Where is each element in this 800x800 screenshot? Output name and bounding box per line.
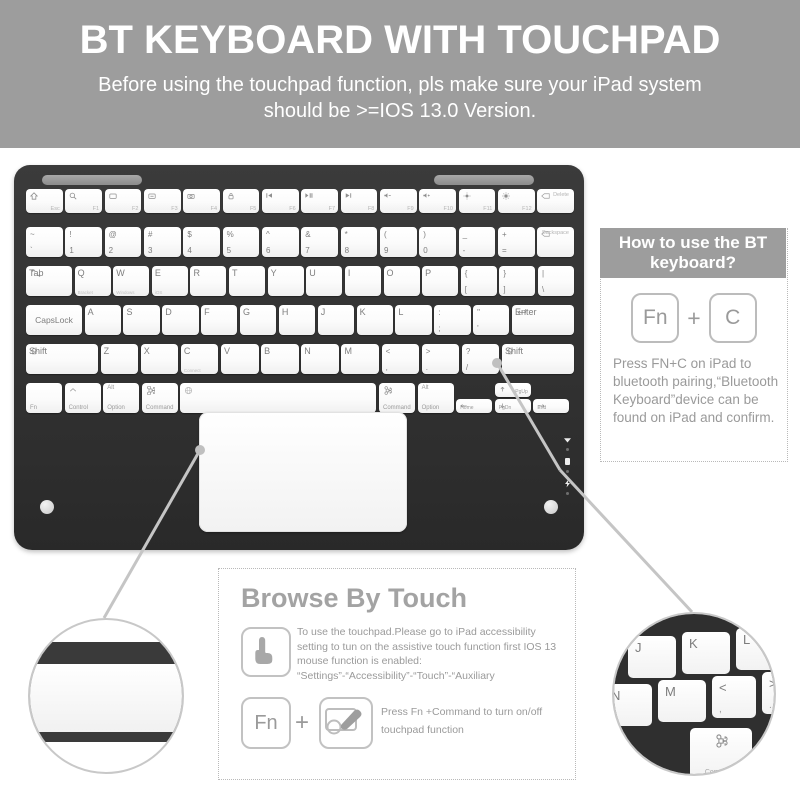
key-h[interactable]: H <box>279 305 315 335</box>
key-j[interactable]: J <box>318 305 354 335</box>
key-f1[interactable]: F1 <box>65 189 102 213</box>
key-l[interactable]: L <box>395 305 431 335</box>
keyboard-brightness-up-icon <box>148 192 156 202</box>
volume-down-icon <box>384 192 393 201</box>
key-[interactable]: |\ <box>538 266 574 296</box>
control-icon <box>69 386 77 395</box>
page-title: BT KEYBOARD WITH TOUCHPAD <box>0 18 800 62</box>
key-s[interactable]: S <box>123 305 159 335</box>
key-2[interactable]: @2 <box>105 227 142 257</box>
ipad-slot-left <box>42 175 142 185</box>
search-icon <box>69 192 77 202</box>
key-[interactable]: "' <box>473 305 509 335</box>
key-r[interactable]: R <box>190 266 226 296</box>
key-v[interactable]: V <box>221 344 259 374</box>
finger-touch-icon <box>241 627 291 677</box>
header-banner: BT KEYBOARD WITH TOUCHPAD Before using t… <box>0 0 800 148</box>
key-t[interactable]: T <box>229 266 265 296</box>
key-fn[interactable]: Fn <box>26 383 62 413</box>
fn-key-cap[interactable]: Fn <box>631 293 679 343</box>
command-symbol-icon <box>383 386 392 397</box>
panel-touch-description-2: Press Fn +Command to turn on/off touchpa… <box>381 703 571 739</box>
closeup-key-j[interactable]: J <box>628 636 676 678</box>
key-9[interactable]: (9 <box>380 227 417 257</box>
delete-icon <box>541 192 550 201</box>
browse-by-touch-panel: Browse By Touch To use the touchpad.Plea… <box>218 568 576 780</box>
infographic-canvas: BT KEYBOARD WITH TOUCHPAD Before using t… <box>0 0 800 800</box>
key-6[interactable]: ^6 <box>262 227 299 257</box>
key-f3[interactable]: F3 <box>144 189 181 213</box>
keyboard-foot-left <box>40 500 54 514</box>
command-symbol-icon <box>690 734 752 751</box>
closeup-key-n[interactable]: N <box>612 684 652 726</box>
key-[interactable]: {[ <box>461 266 497 296</box>
led-dot-3 <box>566 492 569 495</box>
charging-led-icon <box>563 479 572 488</box>
key-y[interactable]: Y <box>268 266 304 296</box>
key-f11[interactable]: F11 <box>459 189 496 213</box>
play-pause-icon <box>305 192 314 201</box>
key-tab[interactable]: Tab <box>26 266 72 296</box>
key-p[interactable]: P <box>422 266 458 296</box>
key-7[interactable]: &7 <box>301 227 338 257</box>
panel-touch-description: To use the touchpad.Please go to iPad ac… <box>297 625 567 683</box>
next-track-icon <box>345 192 354 201</box>
panel-bt-description: Press FN+C on iPad to bluetooth pairing,… <box>613 355 781 427</box>
key-q[interactable]: QBracket <box>75 266 111 296</box>
key-[interactable]: <, <box>382 344 420 374</box>
touchpad-closeup-content <box>28 642 184 750</box>
closeup-keyboard-body <box>28 654 184 742</box>
closeup-key-command[interactable]: Command <box>690 728 752 776</box>
key-grid: EscF1F2F3F4F5F6F7F8F9F10F11F12Delete ~`!… <box>26 189 574 399</box>
key-end[interactable]: End <box>533 399 569 413</box>
closeup-touchpad <box>30 664 182 732</box>
led-dot-1 <box>566 448 569 451</box>
key-control[interactable]: Control <box>65 383 101 413</box>
key-option[interactable]: OptionAlt <box>103 383 139 413</box>
key-f12[interactable]: F12 <box>498 189 535 213</box>
key-f[interactable]: F <box>201 305 237 335</box>
closeup-key-m[interactable]: M <box>658 680 706 722</box>
key-k[interactable]: K <box>357 305 393 335</box>
closeup-key--[interactable]: <, <box>712 676 756 718</box>
key-enter[interactable]: Enter <box>512 305 574 335</box>
fn-key-cap-touch[interactable]: Fn <box>241 697 291 749</box>
key-command[interactable]: Command <box>142 383 178 413</box>
closeup-key-k[interactable]: K <box>682 632 730 674</box>
key-f5[interactable]: F5 <box>223 189 260 213</box>
key-[interactable]: ?/ <box>462 344 500 374</box>
keyboard-foot-right <box>544 500 558 514</box>
key-3[interactable]: #3 <box>144 227 181 257</box>
panel-bt-key-combo: Fn + C <box>601 287 787 349</box>
key-option[interactable]: OptionAlt <box>418 383 454 413</box>
key-f9[interactable]: F9 <box>380 189 417 213</box>
key-pgdn[interactable]: PgDn <box>495 399 531 413</box>
key-g[interactable]: G <box>240 305 276 335</box>
c-key-cap[interactable]: C <box>709 293 757 343</box>
command-icon <box>146 386 155 397</box>
key-1[interactable]: !1 <box>65 227 102 257</box>
key-delete[interactable]: Delete <box>537 189 574 213</box>
key-4[interactable]: $4 <box>183 227 220 257</box>
plus-sign: + <box>687 305 700 332</box>
keys-closeup-circle: JKLNM<,>.Command <box>612 612 776 776</box>
key-[interactable]: _- <box>459 227 496 257</box>
key-capslock[interactable]: CapsLock <box>26 305 82 335</box>
key-backspace[interactable]: Backspace <box>537 227 574 257</box>
key-f8[interactable]: F8 <box>341 189 378 213</box>
how-to-use-bt-panel: How to use the BT keyboard? Fn + C Press… <box>600 228 788 462</box>
home-icon <box>30 192 38 202</box>
key-f6[interactable]: F6 <box>262 189 299 213</box>
key-i[interactable]: I <box>345 266 381 296</box>
key-c[interactable]: CConnect <box>181 344 219 374</box>
previous-track-icon <box>266 192 275 201</box>
key-[interactable]: :; <box>434 305 470 335</box>
key-home[interactable]: Home <box>456 399 492 413</box>
closeup-key-l[interactable]: L <box>736 628 776 670</box>
arrow-up-icon <box>499 386 506 395</box>
key-m[interactable]: M <box>341 344 379 374</box>
volume-up-icon <box>423 192 432 201</box>
key-w[interactable]: WWindows <box>113 266 149 296</box>
brightness-up-icon <box>502 192 510 202</box>
key-f4[interactable]: F4 <box>183 189 220 213</box>
hand-on-touchpad-icon <box>319 697 373 749</box>
key-shift[interactable]: Shift <box>502 344 574 374</box>
key-f10[interactable]: F10 <box>419 189 456 213</box>
key-command[interactable]: Command <box>379 383 415 413</box>
keyboard-illustration: EscF1F2F3F4F5F6F7F8F9F10F11F12Delete ~`!… <box>14 165 584 550</box>
key-8[interactable]: *8 <box>341 227 378 257</box>
bluetooth-led-icon <box>563 435 572 444</box>
key-shift[interactable]: Shift <box>26 344 98 374</box>
key-[interactable]: }] <box>499 266 535 296</box>
key-b[interactable]: B <box>261 344 299 374</box>
key-0[interactable]: )0 <box>419 227 456 257</box>
key-d[interactable]: D <box>162 305 198 335</box>
plus-sign-touch: + <box>295 709 309 737</box>
key-x[interactable]: X <box>141 344 179 374</box>
panel-touch-title: Browse By Touch <box>241 583 467 614</box>
key-[interactable]: ~` <box>26 227 63 257</box>
key-5[interactable]: %5 <box>223 227 260 257</box>
globe-icon <box>184 386 193 397</box>
lock-icon <box>227 192 235 202</box>
key-a[interactable]: A <box>85 305 121 335</box>
key-space[interactable] <box>180 383 376 413</box>
key-z[interactable]: Z <box>101 344 139 374</box>
header-subtitle: Before using the touchpad function, pls … <box>70 72 730 124</box>
key-[interactable]: += <box>498 227 535 257</box>
ipad-slot-right <box>434 175 534 185</box>
key-o[interactable]: O <box>384 266 420 296</box>
closeup-key--[interactable]: >. <box>762 672 776 714</box>
touchpad-closeup-circle <box>28 618 184 774</box>
screenshot-icon <box>187 192 195 202</box>
key-u[interactable]: U <box>306 266 342 296</box>
battery-led-icon <box>563 457 572 466</box>
keyboard-brightness-down-icon <box>109 192 117 202</box>
brightness-down-icon <box>463 192 471 202</box>
touchpad[interactable] <box>199 412 407 532</box>
led-dot-2 <box>566 470 569 473</box>
key-f2[interactable]: F2 <box>105 189 142 213</box>
key-pgup[interactable]: PgUp <box>495 383 531 397</box>
keys-closeup-content: JKLNM<,>.Command <box>612 612 776 776</box>
key-f7[interactable]: F7 <box>301 189 338 213</box>
panel-bt-title: How to use the BT keyboard? <box>600 228 786 278</box>
key-esc[interactable]: Esc <box>26 189 63 213</box>
key-n[interactable]: N <box>301 344 339 374</box>
key-[interactable]: >. <box>422 344 460 374</box>
key-e[interactable]: EiOS <box>152 266 188 296</box>
